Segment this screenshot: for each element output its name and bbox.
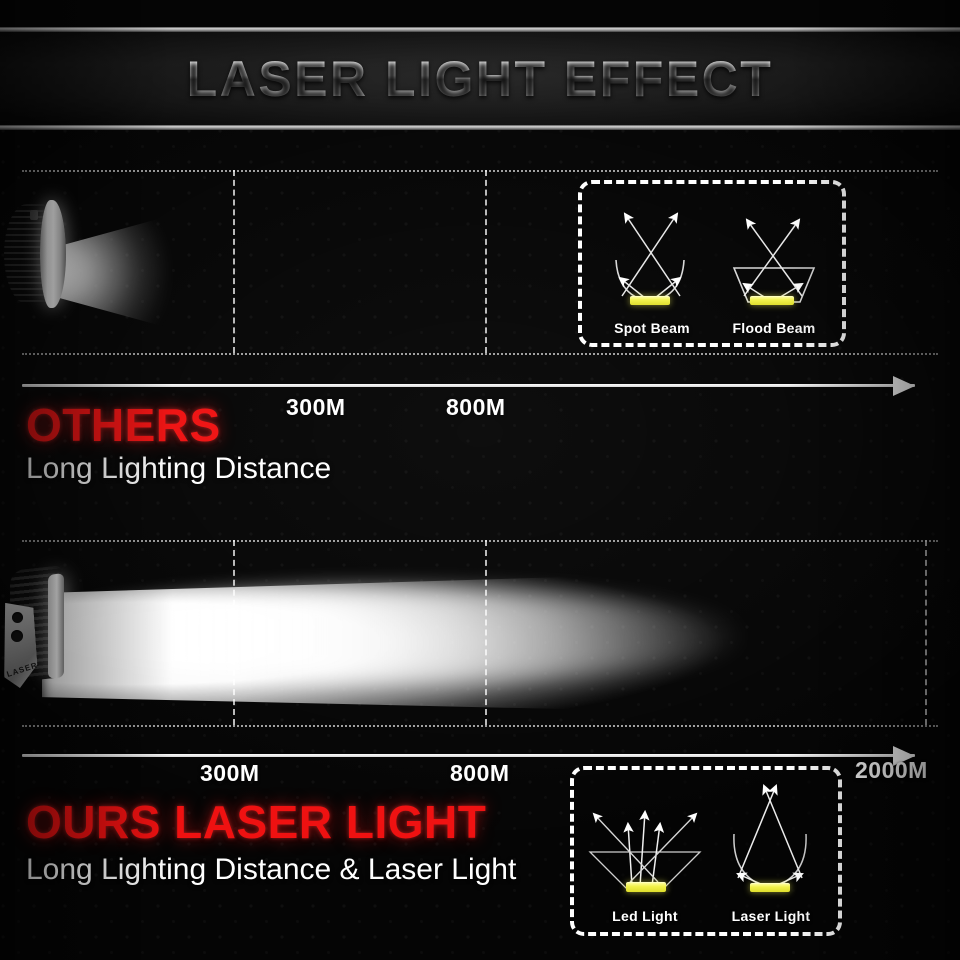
ours-subheading: Long Lighting Distance & Laser Light (26, 853, 516, 887)
gridline-vertical-2000m-bottom (925, 540, 927, 725)
beam-type-inset-bottom: Led Light Laser Light (570, 766, 842, 936)
beam-type-inset-top: Spot Beam Flood Beam (578, 180, 846, 347)
round-headlight (4, 200, 74, 308)
led-light-chip (626, 882, 666, 892)
bracket-hole-upper (12, 612, 23, 623)
spot-beam-led-chip (630, 296, 670, 305)
gridline-horizontal-others-bottom (22, 353, 938, 355)
others-subheading: Long Lighting Distance (26, 452, 331, 486)
spot-beam-label: Spot Beam (592, 320, 712, 336)
gridline-vertical-300m-bottom (233, 540, 235, 725)
lamp-bolt (30, 210, 38, 220)
gridline-vertical-300m-top (233, 170, 235, 353)
others-tick-300m: 300M (286, 394, 346, 421)
poster-canvas: LASER LIGHT EFFECT 300M 800M OTHERS Long… (0, 0, 960, 960)
lamp-lens (40, 200, 66, 308)
ours-distance-axis (22, 754, 915, 757)
gridline-horizontal-ours-bottom (22, 725, 938, 727)
others-heading: OTHERS (26, 398, 221, 452)
gridline-vertical-800m-bottom (485, 540, 487, 725)
bracket-hole-lower (11, 630, 23, 642)
led-light-diagram: Led Light (582, 778, 708, 906)
gridline-horizontal-ours-top (22, 540, 938, 542)
ours-tick-2000m: 2000M (855, 757, 928, 784)
spot-beam-diagram: Spot Beam (592, 192, 712, 317)
flood-beam-label: Flood Beam (714, 320, 834, 336)
flood-beam-diagram: Flood Beam (714, 192, 834, 317)
laser-light-chip (750, 883, 790, 892)
header-band: LASER LIGHT EFFECT (0, 30, 960, 127)
others-axis-arrowhead (893, 376, 915, 396)
led-light-label: Led Light (582, 908, 708, 924)
others-distance-axis (22, 384, 915, 387)
laser-light-diagram: Laser Light (708, 778, 834, 906)
ours-beam-core (48, 590, 748, 682)
ours-heading: OURS LASER LIGHT (26, 795, 486, 849)
laser-light-bar: LASER (2, 568, 74, 694)
ours-beam-glow (42, 556, 922, 724)
laser-light-label: Laser Light (708, 908, 834, 924)
flood-beam-led-chip (750, 296, 794, 305)
light-bar-lens (48, 573, 64, 679)
ours-tick-800m: 800M (450, 760, 510, 787)
gridline-horizontal-top (22, 170, 938, 172)
others-tick-800m: 800M (446, 394, 506, 421)
ours-tick-300m: 300M (200, 760, 260, 787)
gridline-vertical-800m-top (485, 170, 487, 353)
page-title: LASER LIGHT EFFECT (0, 30, 960, 127)
